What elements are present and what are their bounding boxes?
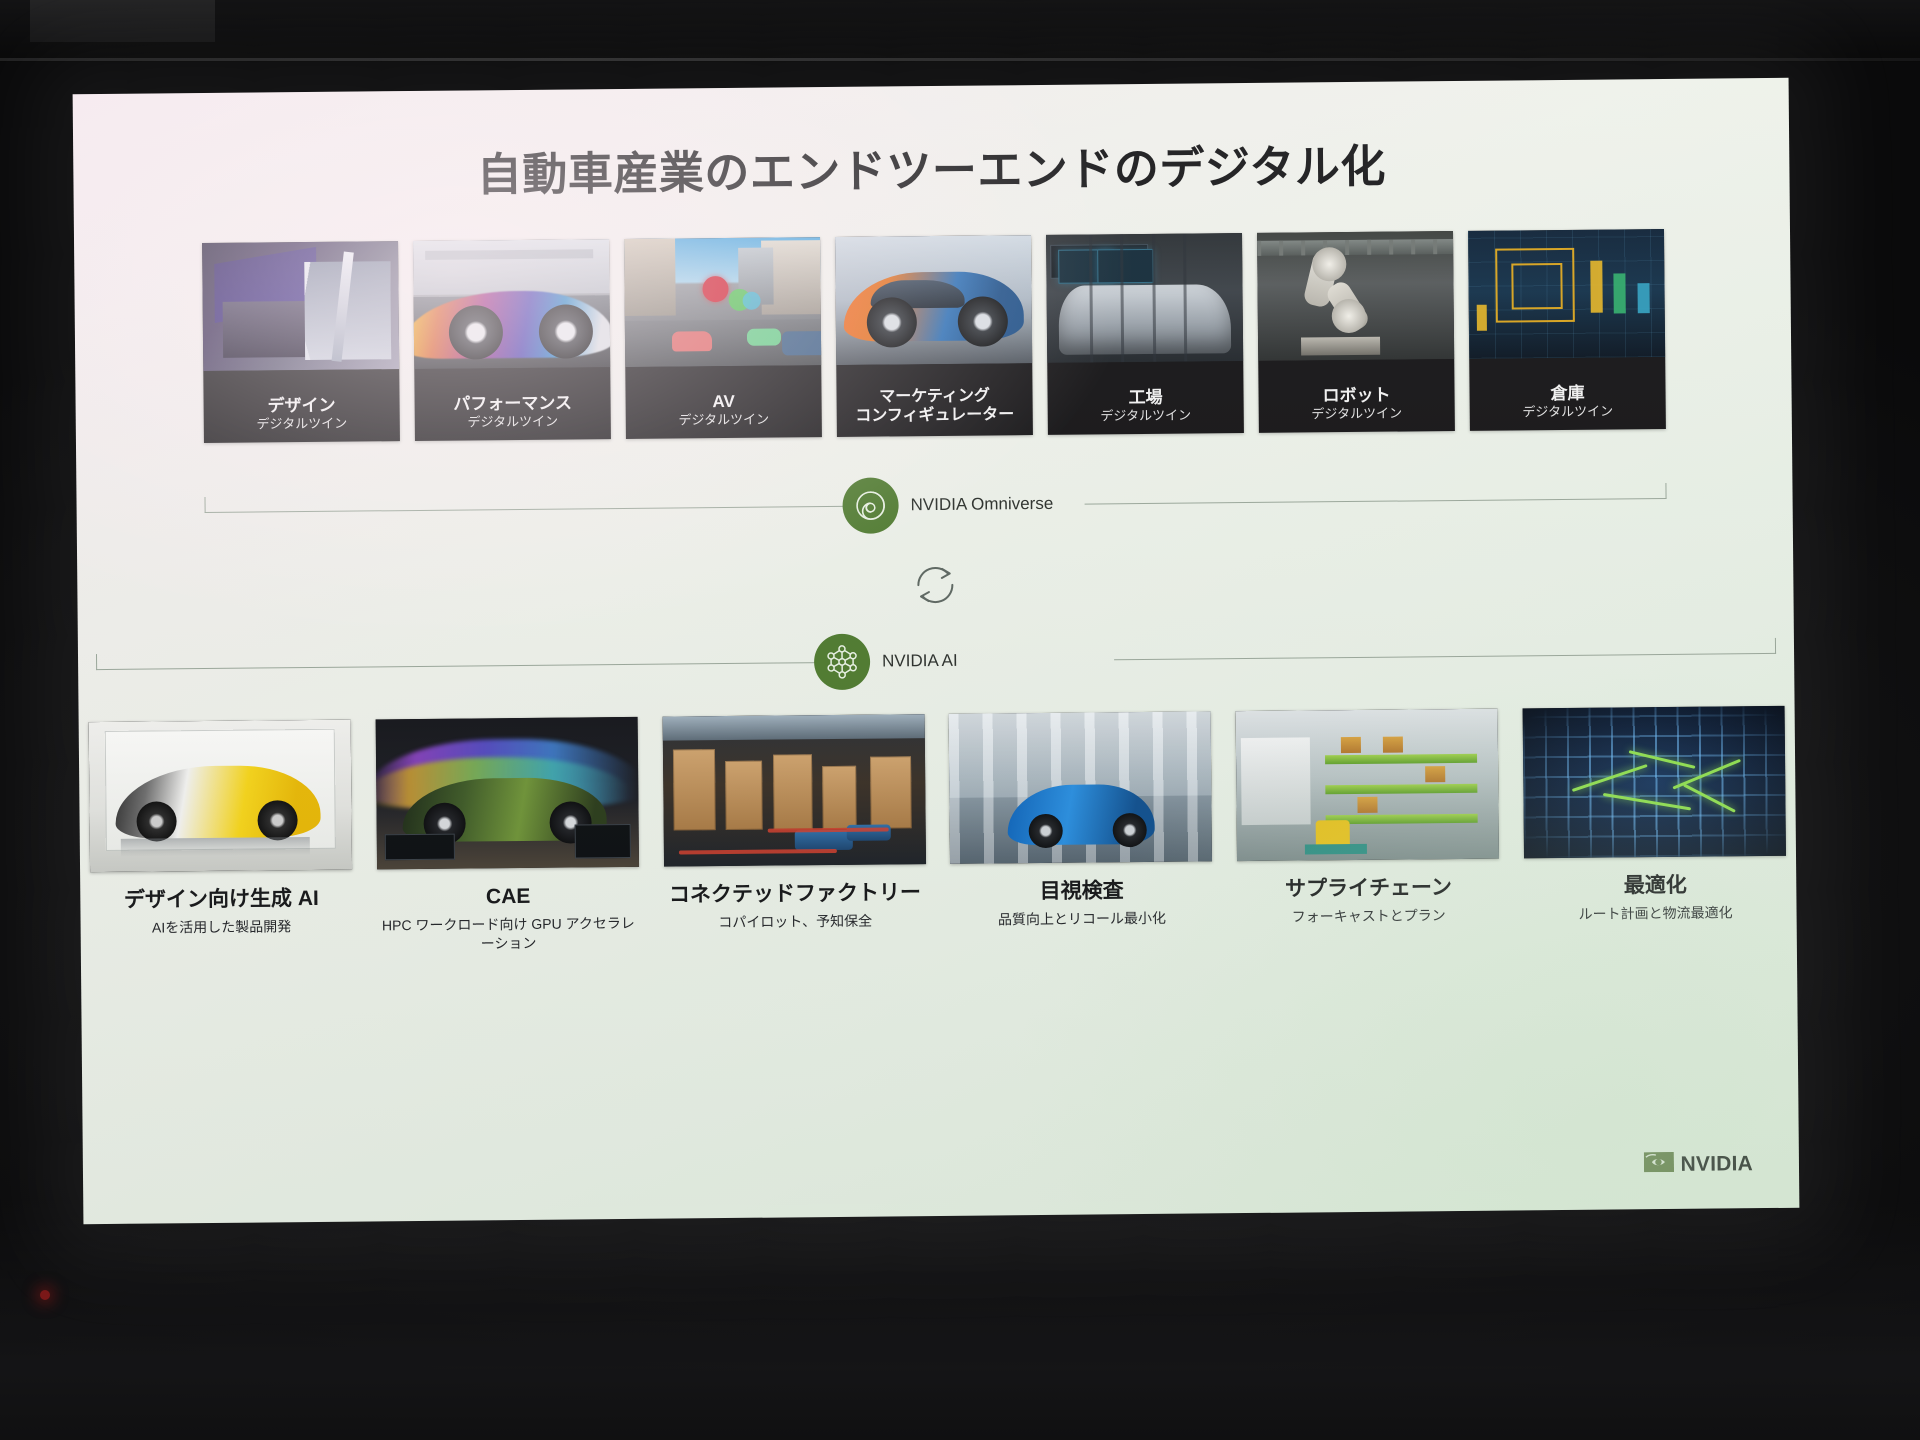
ceiling-seam-line [0,58,1920,61]
card-caption: AV デジタルツイン [626,391,822,429]
engine-bay-icon [202,241,399,371]
omniverse-swirl-icon [842,477,899,534]
card-title: ロボット [1258,385,1454,407]
digital-twin-card-row: デザイン デジタルツイン パフォーマンス デジタルツイン [202,229,1666,443]
visual-inspection-icon [949,711,1212,864]
card-title: 倉庫 [1469,383,1665,405]
card-title: AV [626,391,822,413]
cae-airflow-car-icon [375,717,638,870]
nvidia-ai-band: NVIDIA AI [96,624,1776,700]
cell-route-optimization[interactable]: 最適化 ルート計画と物流最適化 [1523,706,1788,1009]
nvidia-eye-icon [1643,1152,1673,1177]
card-title-line2: コンフィギュレーター [837,406,1033,427]
nvidia-ai-chip[interactable]: NVIDIA AI [814,633,958,690]
omniverse-label: NVIDIA Omniverse [911,494,1054,515]
band-tick-left [204,497,205,513]
card-robot-digital-twin[interactable]: ロボット デジタルツイン [1257,231,1455,433]
card-caption: ロボット デジタルツイン [1258,385,1454,423]
omniverse-chip[interactable]: NVIDIA Omniverse [842,476,1053,534]
band-tick-left [96,654,97,670]
cell-cae[interactable]: CAE HPC ワークロード向け GPU アクセラレーション [375,717,640,1020]
cell-subtitle: HPC ワークロード向け GPU アクセラレーション [377,914,639,953]
card-marketing-configurator[interactable]: マーケティング コンフィギュレーター [835,235,1033,437]
card-caption: 倉庫 デジタルツイン [1469,383,1665,421]
card-subtitle: デジタルツイン [626,411,822,429]
card-subtitle: デジタルツイン [1470,403,1666,421]
aero-car-icon [413,239,610,369]
cell-supply-chain[interactable]: サプライチェーン フォーキャストとプラン [1236,709,1501,1012]
cell-caption: 目視検査 品質向上とリコール最小化 [951,877,1213,929]
card-subtitle: デジタルツイン [204,415,400,433]
av-street-icon [624,237,821,367]
warehouse-icon [1468,229,1665,359]
band-line-right [1085,498,1667,505]
card-title: パフォーマンス [415,393,611,415]
equipment-indicator-light [40,1290,50,1300]
supply-chain-icon [1236,709,1499,862]
cell-title: コネクテッドファクトリー [664,880,926,908]
cell-connected-factory[interactable]: コネクテッドファクトリー コパイロット、予知保全 [662,714,927,1017]
band-tick-right [1775,638,1776,654]
card-caption: 工場 デジタルツイン [1047,387,1243,425]
nvidia-logo: NVIDIA [1643,1151,1753,1177]
configurator-car-icon [835,235,1032,365]
generative-design-car-icon [89,720,352,873]
card-caption: マーケティング コンフィギュレーター [836,387,1032,427]
cell-title: 目視検査 [951,877,1213,905]
cell-subtitle: AIを活用した製品開発 [91,917,353,938]
cell-title: サプライチェーン [1237,875,1499,903]
cell-caption: コネクテッドファクトリー コパイロット、予知保全 [664,880,926,932]
card-title: 工場 [1047,387,1243,409]
cell-visual-inspection[interactable]: 目視検査 品質向上とリコール最小化 [949,711,1214,1014]
cell-caption: CAE HPC ワークロード向け GPU アクセラレーション [377,883,640,954]
card-subtitle: デジタルツイン [1259,405,1455,423]
cell-subtitle: ルート計画と物流最適化 [1524,903,1786,924]
cell-caption: 最適化 ルート計画と物流最適化 [1524,872,1786,924]
card-performance-digital-twin[interactable]: パフォーマンス デジタルツイン [413,239,611,441]
floor-shadow-gradient [0,1200,1920,1440]
cycle-arrows-icon [906,556,965,615]
robot-arm-icon [1257,231,1454,361]
card-subtitle: デジタルツイン [415,413,611,431]
card-av-digital-twin[interactable]: AV デジタルツイン [624,237,822,439]
cell-caption: デザイン向け生成 AI AIを活用した製品開発 [90,886,352,938]
presentation-slide: 自動車産業のエンドツーエンドのデジタル化 デザイン デジタルツイン [73,78,1800,1224]
card-caption: パフォーマンス デジタルツイン [415,393,611,431]
cell-title: CAE [377,883,639,911]
card-title: マーケティング [836,387,1032,408]
ai-usecase-row: デザイン向け生成 AI AIを活用した製品開発 CAE [79,706,1798,1022]
nvidia-wordmark: NVIDIA [1680,1152,1753,1177]
cell-generative-design[interactable]: デザイン向け生成 AI AIを活用した製品開発 [89,720,354,1023]
card-warehouse-digital-twin[interactable]: 倉庫 デジタルツイン [1468,229,1666,431]
card-title: デザイン [204,395,400,417]
cell-title: デザイン向け生成 AI [90,886,352,914]
band-line-left [96,662,824,670]
route-optimization-icon [1523,706,1786,859]
cell-subtitle: コパイロット、予知保全 [664,911,926,932]
band-tick-right [1665,483,1666,499]
card-factory-digital-twin[interactable]: 工場 デジタルツイン [1046,233,1244,435]
band-line-left [205,506,853,513]
nvidia-ai-label: NVIDIA AI [882,651,958,672]
ceiling-strip [0,0,1920,62]
card-subtitle: デジタルツイン [1048,407,1244,425]
cell-subtitle: 品質向上とリコール最小化 [951,909,1213,930]
cell-caption: サプライチェーン フォーキャストとプラン [1237,875,1499,927]
page-title: 自動車産業のエンドツーエンドのデジタル化 [73,126,1790,207]
omniverse-band: NVIDIA Omniverse [204,469,1667,543]
cell-subtitle: フォーキャストとプラン [1238,906,1500,927]
ceiling-mount-bracket [30,0,215,42]
band-line-right [1114,653,1776,660]
card-caption: デザイン デジタルツイン [204,395,400,433]
card-design-digital-twin[interactable]: デザイン デジタルツイン [202,241,400,443]
factory-bodyshop-icon [1046,233,1243,363]
cell-title: 最適化 [1524,872,1786,900]
projection-screen: 自動車産業のエンドツーエンドのデジタル化 デザイン デジタルツイン [73,78,1800,1224]
nvidia-ai-network-icon [814,634,871,691]
connected-factory-icon [662,714,925,867]
